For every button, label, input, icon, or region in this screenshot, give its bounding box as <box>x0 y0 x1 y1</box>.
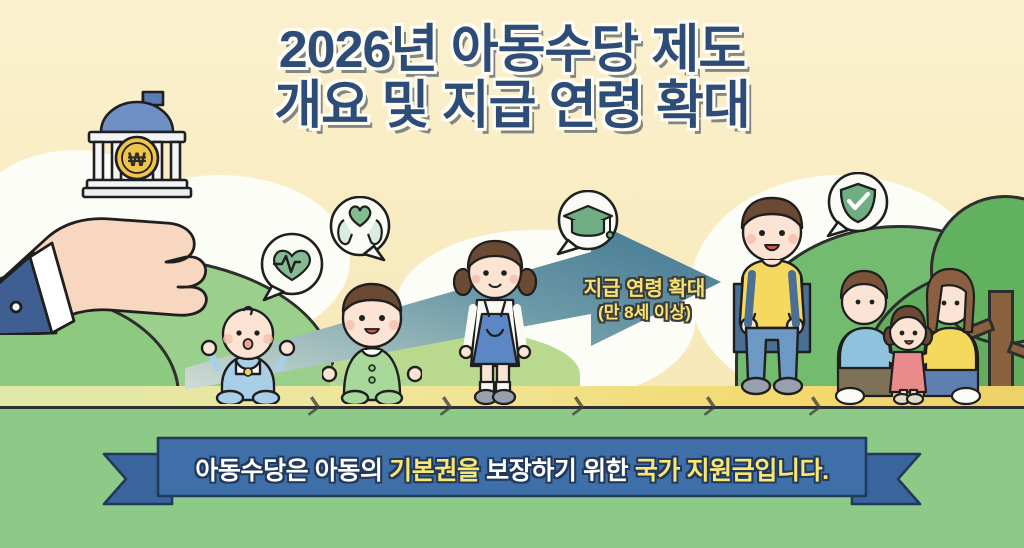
bubble-caring-hands <box>322 196 396 270</box>
bubble-graduation-cap <box>552 190 624 262</box>
figure-family-group <box>832 246 984 406</box>
svg-text:₩: ₩ <box>128 150 146 171</box>
figure-schoolboy-backpack <box>718 192 826 404</box>
figure-toddler <box>322 276 422 404</box>
bottom-banner-ribbon <box>96 432 928 510</box>
figure-girl-pinafore <box>449 236 541 406</box>
infographic-canvas: 2026년 아동수당 제도 개요 및 지급 연령 확대 지급 연령 확대 (만 … <box>0 0 1024 548</box>
figure-baby <box>198 300 298 404</box>
bubble-heartbeat <box>258 232 330 304</box>
bubble-shield-check <box>820 172 892 244</box>
giving-hand-icon <box>0 195 220 335</box>
government-building-icon: ₩ <box>75 88 200 196</box>
